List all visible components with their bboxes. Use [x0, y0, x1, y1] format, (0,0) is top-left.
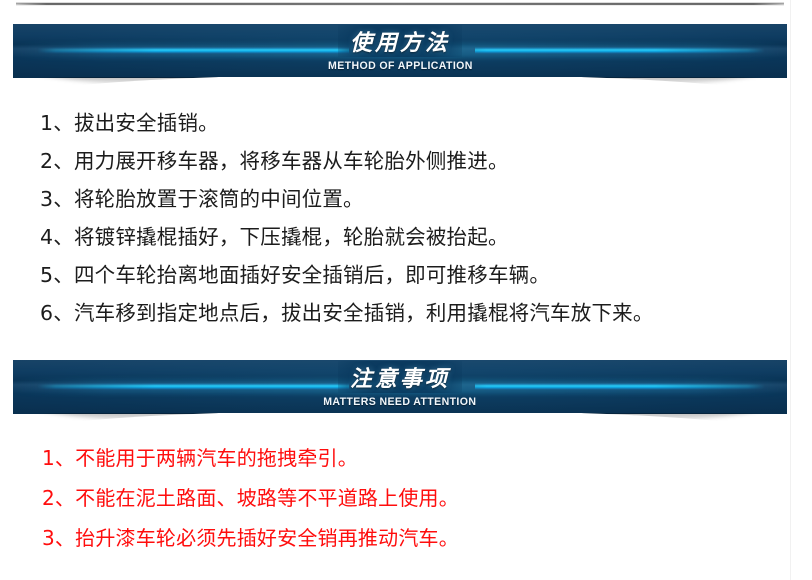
banner-surface-attention: 注意事项 MATTERS NEED ATTENTION: [13, 360, 787, 414]
list-item: 3、 抬升漆车轮必须先插好安全销再推动汽车。: [0, 518, 812, 558]
list-item: 2、 不能在泥土路面、坡路等不平道路上使用。: [0, 478, 812, 518]
list-item: 3、 将轮胎放置于滚筒的中间位置。: [0, 180, 812, 218]
banner-matters-need-attention: 注意事项 MATTERS NEED ATTENTION: [13, 360, 787, 414]
banner-method-of-application: 使用方法 METHOD OF APPLICATION: [13, 24, 787, 78]
list-item: 1、 不能用于两辆汽车的拖拽牵引。: [0, 438, 812, 478]
attention-notes-list: 1、 不能用于两辆汽车的拖拽牵引。 2、 不能在泥土路面、坡路等不平道路上使用。…: [0, 438, 812, 558]
list-item-number: 5、: [40, 256, 74, 294]
list-item-number: 1、: [40, 104, 74, 142]
banner-text-block-method: 使用方法 METHOD OF APPLICATION: [13, 24, 787, 78]
list-item-text: 抬升漆车轮必须先插好安全销再推动汽车。: [75, 518, 459, 558]
list-item-number: 2、: [40, 142, 74, 180]
list-item-number: 6、: [40, 294, 74, 332]
banner-surface-method: 使用方法 METHOD OF APPLICATION: [13, 24, 787, 78]
product-instruction-page: 使用方法 METHOD OF APPLICATION 1、 拔出安全插销。 2、…: [0, 0, 812, 580]
list-item-number: 4、: [40, 218, 74, 256]
top-divider-rule: [16, 2, 784, 6]
list-item-text: 将镀锌撬棍插好，下压撬棍，轮胎就会被抬起。: [74, 218, 509, 256]
list-item-text: 拔出安全插销。: [74, 104, 219, 142]
banner-title-method: 使用方法: [338, 25, 462, 57]
list-item: 2、 用力展开移车器，将移车器从车轮胎外侧推进。: [0, 142, 812, 180]
list-item-text: 用力展开移车器，将移车器从车轮胎外侧推进。: [74, 142, 509, 180]
list-item-text: 四个车轮抬离地面插好安全插销后，即可推移车辆。: [74, 256, 550, 294]
list-item: 5、 四个车轮抬离地面插好安全插销后，即可推移车辆。: [0, 256, 812, 294]
banner-subtitle-attention: MATTERS NEED ATTENTION: [323, 396, 476, 408]
list-item-text: 不能在泥土路面、坡路等不平道路上使用。: [75, 478, 459, 518]
list-item-text: 汽车移到指定地点后，拔出安全插销，利用撬棍将汽车放下来。: [74, 294, 654, 332]
banner-curved-shadow-method: [7, 77, 793, 107]
list-item-number: 3、: [40, 180, 74, 218]
list-item-number: 2、: [42, 478, 75, 518]
list-item: 6、 汽车移到指定地点后，拔出安全插销，利用撬棍将汽车放下来。: [0, 294, 812, 332]
list-item-text: 不能用于两辆汽车的拖拽牵引。: [75, 438, 358, 478]
banner-subtitle-method: METHOD OF APPLICATION: [328, 60, 473, 72]
list-item-number: 1、: [42, 438, 75, 478]
list-item: 1、 拔出安全插销。: [0, 104, 812, 142]
usage-steps-list: 1、 拔出安全插销。 2、 用力展开移车器，将移车器从车轮胎外侧推进。 3、 将…: [0, 104, 812, 332]
banner-title-attention: 注意事项: [338, 361, 462, 393]
list-item-number: 3、: [42, 518, 75, 558]
list-item: 4、 将镀锌撬棍插好，下压撬棍，轮胎就会被抬起。: [0, 218, 812, 256]
list-item-text: 将轮胎放置于滚筒的中间位置。: [74, 180, 364, 218]
banner-text-block-attention: 注意事项 MATTERS NEED ATTENTION: [13, 360, 787, 414]
